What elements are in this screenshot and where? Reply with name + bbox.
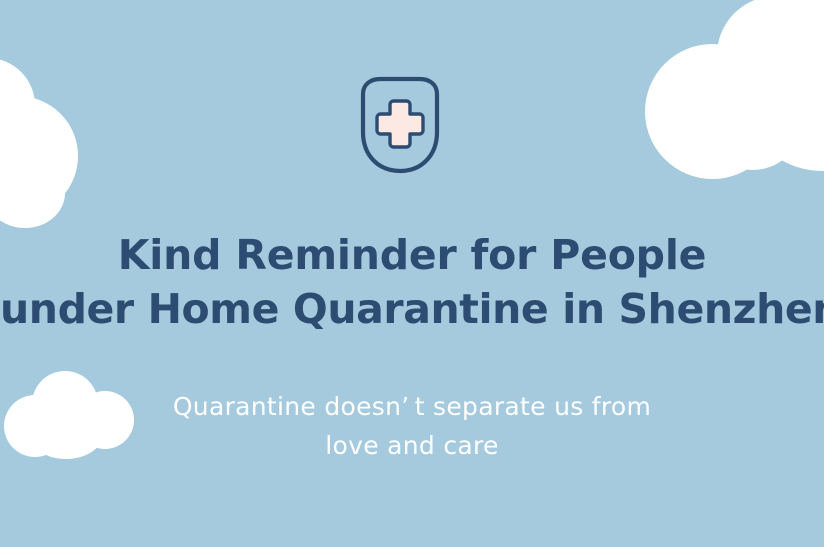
subtitle: Quarantine doesn’t separate us from love… [0,387,824,465]
apostrophe-glyph: ’ [401,392,414,421]
title-line-2: under Home Quarantine in Shenzhen [0,282,824,336]
cloud-puff [750,46,824,171]
medical-shield-icon [359,76,441,174]
cloud-puff [763,0,824,82]
cloud-top-right-icon [645,0,824,189]
subtitle-line-1: Quarantine doesn’t separate us from [0,387,824,426]
cloud-puff [0,96,78,216]
page-title: Kind Reminder for People under Home Quar… [0,228,824,336]
cloud-puff [0,58,35,153]
cloud-top-left-icon [0,58,130,233]
subtitle-line-2: love and care [0,426,824,465]
cloud-puff [645,44,780,179]
cloud-puff [705,82,800,170]
cloud-puff [0,158,65,228]
cloud-puff [0,118,40,223]
title-line-1: Kind Reminder for People [0,228,824,282]
subtitle-text-before-apostrophe: Quarantine doesn [173,392,401,421]
poster-canvas: Kind Reminder for People under Home Quar… [0,0,824,547]
cloud-puff [717,0,824,114]
subtitle-text-after-apostrophe: t separate us from [415,392,651,421]
